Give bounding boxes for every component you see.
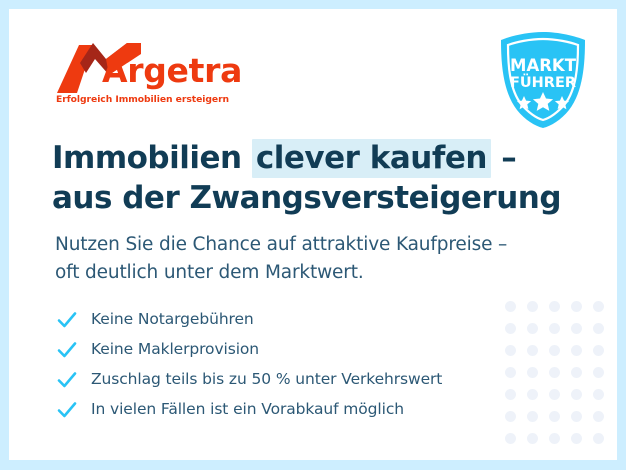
grid-dot — [593, 345, 604, 356]
subtitle-line-2: oft deutlich unter dem Marktwert. — [55, 259, 507, 287]
badge-line1: MARKT — [510, 56, 577, 75]
dot-grid-decoration — [499, 295, 609, 449]
list-item: Keine Notargebühren — [56, 305, 442, 335]
headline-text-after: – — [491, 140, 516, 176]
subtitle: Nutzen Sie die Chance auf attraktive Kau… — [55, 231, 507, 287]
grid-dot — [571, 411, 582, 422]
grid-dot — [527, 433, 538, 444]
grid-dot — [527, 301, 538, 312]
grid-dot — [505, 411, 516, 422]
grid-dot — [593, 323, 604, 334]
list-item: Zuschlag teils bis zu 50 % unter Verkehr… — [56, 365, 442, 395]
logo-tagline: Erfolgreich Immobilien ersteigern — [56, 94, 229, 105]
check-icon — [56, 339, 78, 361]
grid-dot — [549, 433, 560, 444]
headline-line-1: Immobilien clever kaufen – — [52, 139, 561, 179]
logo-wordmark: Argetra — [102, 54, 242, 87]
grid-dot — [527, 411, 538, 422]
grid-dot — [505, 301, 516, 312]
grid-dot — [505, 389, 516, 400]
grid-dot — [527, 389, 538, 400]
subtitle-line-1: Nutzen Sie die Chance auf attraktive Kau… — [55, 231, 507, 259]
grid-dot — [593, 367, 604, 378]
grid-dot — [571, 345, 582, 356]
ad-canvas: Argetra Erfolgreich Immobilien ersteiger… — [9, 9, 617, 460]
headline-line-2: aus der Zwangsversteigerung — [52, 179, 561, 219]
check-icon — [56, 309, 78, 331]
grid-dot — [549, 301, 560, 312]
benefit-label: Zuschlag teils bis zu 50 % unter Verkehr… — [91, 372, 442, 388]
shield-icon: MARKT FÜHRER — [497, 30, 589, 130]
list-item: Keine Maklerprovision — [56, 335, 442, 365]
grid-dot — [593, 389, 604, 400]
check-icon — [56, 399, 78, 421]
grid-dot — [549, 389, 560, 400]
grid-dot — [549, 323, 560, 334]
list-item: In vielen Fällen ist ein Vorabkauf mögli… — [56, 395, 442, 425]
page-title: Immobilien clever kaufen – aus der Zwang… — [52, 139, 561, 219]
grid-dot — [505, 345, 516, 356]
grid-dot — [505, 323, 516, 334]
grid-dot — [593, 411, 604, 422]
benefit-label: Keine Notargebühren — [91, 312, 254, 328]
headline-highlight: clever kaufen — [252, 139, 491, 178]
brand-logo[interactable]: Argetra Erfolgreich Immobilien ersteiger… — [53, 39, 213, 93]
grid-dot — [549, 367, 560, 378]
ad-banner: Argetra Erfolgreich Immobilien ersteiger… — [0, 0, 626, 470]
grid-dot — [527, 323, 538, 334]
badge-line2: FÜHRER — [510, 73, 576, 91]
grid-dot — [571, 301, 582, 312]
grid-dot — [571, 389, 582, 400]
grid-dot — [527, 367, 538, 378]
benefits-list: Keine Notargebühren Keine Maklerprovisio… — [56, 305, 442, 425]
benefit-label: In vielen Fällen ist ein Vorabkauf mögli… — [91, 402, 404, 418]
grid-dot — [527, 345, 538, 356]
grid-dot — [571, 323, 582, 334]
grid-dot — [593, 301, 604, 312]
headline-text-before: Immobilien — [52, 140, 252, 176]
grid-dot — [505, 433, 516, 444]
grid-dot — [505, 367, 516, 378]
grid-dot — [593, 433, 604, 444]
check-icon — [56, 369, 78, 391]
logo-mark-row: Argetra Erfolgreich Immobilien ersteiger… — [53, 39, 213, 93]
grid-dot — [571, 433, 582, 444]
grid-dot — [549, 411, 560, 422]
grid-dot — [549, 345, 560, 356]
market-leader-badge: MARKT FÜHRER — [497, 30, 589, 130]
grid-dot — [571, 367, 582, 378]
benefit-label: Keine Maklerprovision — [91, 342, 259, 358]
